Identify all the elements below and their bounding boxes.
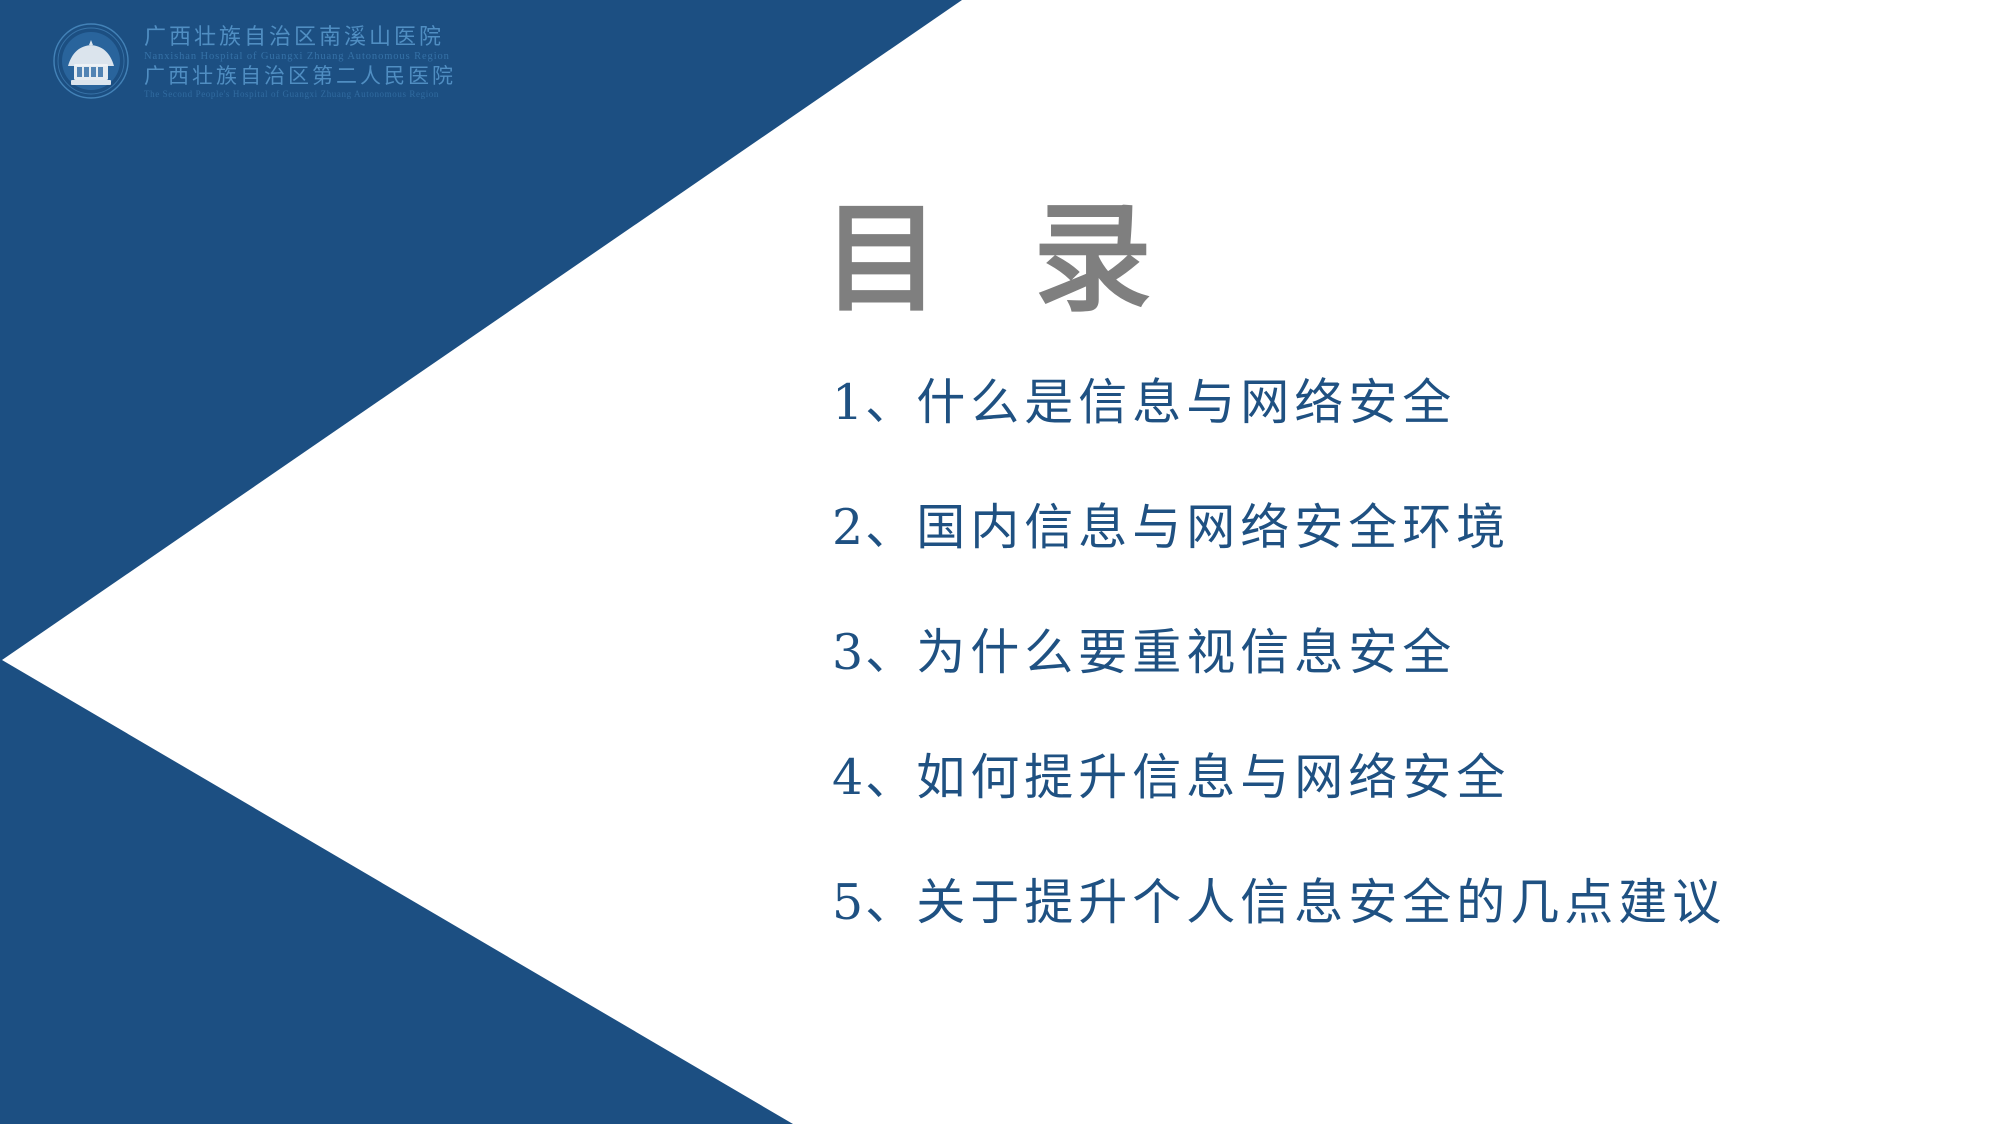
white-chevron-shape: [0, 0, 2000, 1124]
hospital-name-en-primary: Nanxishan Hospital of Guangxi Zhuang Aut…: [144, 51, 456, 62]
hospital-name-en-secondary: The Second People's Hospital of Guangxi …: [144, 90, 456, 99]
hospital-name-cn-secondary: 广西壮族自治区第二人民医院: [144, 65, 456, 87]
hospital-name-block: 广西壮族自治区南溪山医院 Nanxishan Hospital of Guang…: [144, 23, 456, 100]
slide-canvas: 广西壮族自治区南溪山医院 Nanxishan Hospital of Guang…: [0, 0, 2000, 1124]
hospital-emblem-icon: [52, 22, 130, 100]
hospital-logo: 广西壮族自治区南溪山医院 Nanxishan Hospital of Guang…: [52, 22, 456, 100]
hospital-name-cn-primary: 广西壮族自治区南溪山医院: [144, 25, 456, 48]
